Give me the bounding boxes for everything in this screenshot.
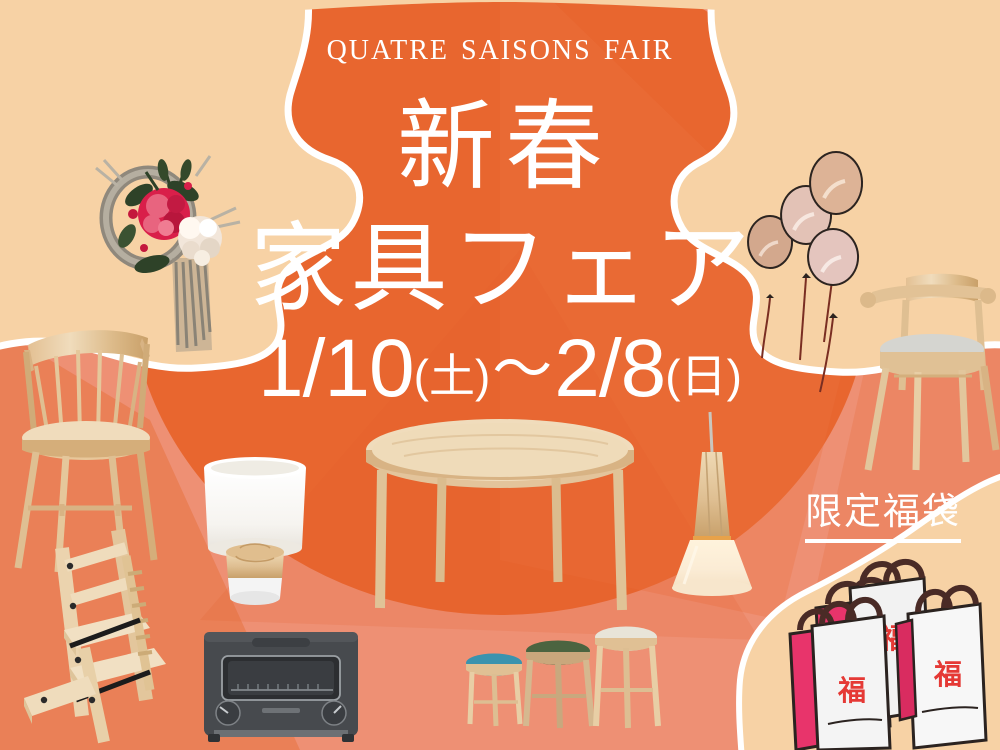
lucky-bags: 福 福 福 [790, 562, 986, 750]
table-lamp [204, 457, 306, 605]
fuku-character: 福 [933, 658, 962, 691]
end-date: 2/8 [554, 323, 665, 414]
round-dining-table [366, 419, 634, 610]
stool-green [526, 641, 592, 729]
limited-lucky-bag-label: 限定福袋 [805, 492, 961, 543]
high-chair [24, 530, 166, 742]
date-separator: 〜 [490, 336, 554, 403]
lucky-bag-white-front-right: 福 [908, 588, 986, 748]
lucky-bag-white-front-left: 福 [812, 600, 890, 750]
start-day-of-week: (土) [414, 350, 491, 402]
headline-line-1: 新春 [0, 95, 1000, 201]
promo-banner: 福 福 福 [0, 0, 1000, 750]
headline-line-2: 家具フェア [0, 218, 1000, 320]
fair-title: Quatre Saisons Fair [0, 26, 1000, 66]
toaster-oven [204, 632, 358, 742]
end-day-of-week: (日) [665, 350, 742, 402]
date-range: 1/10(土)〜2/8(日) [0, 328, 1000, 410]
fuku-character: 福 [837, 674, 866, 707]
stool-teal [466, 654, 522, 727]
stool-cream [595, 627, 658, 729]
start-date: 1/10 [258, 323, 414, 414]
pendant-lamp [672, 412, 752, 596]
